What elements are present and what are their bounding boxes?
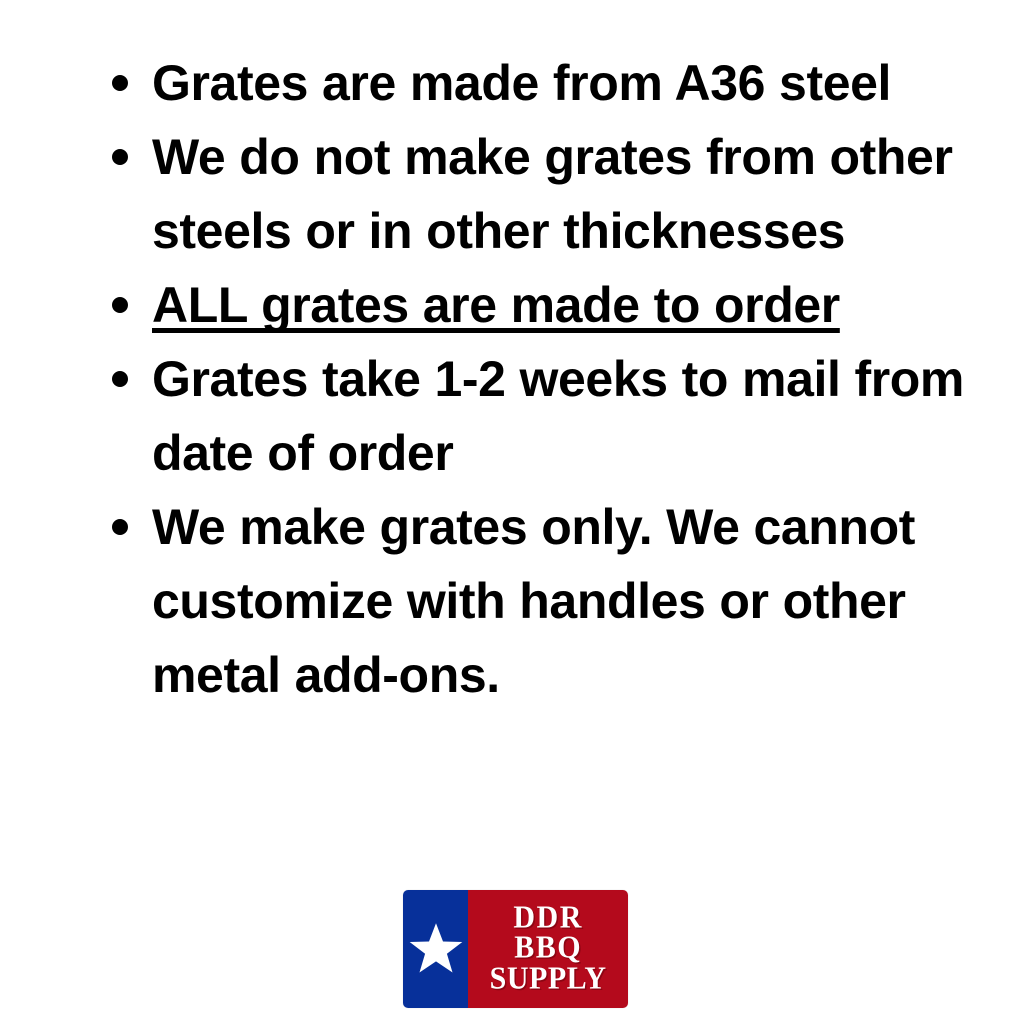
product-details-list: Grates are made from A36 steel We do not…	[108, 46, 970, 712]
bullet-dot-icon	[112, 149, 128, 165]
logo-text-supply: SUPPLY	[490, 963, 607, 995]
bullet-dot-icon	[112, 519, 128, 535]
list-item-text: Grates take 1-2 weeks to mail from date …	[152, 351, 964, 481]
list-item-text: ALL grates are made to order	[152, 277, 840, 333]
list-item: ALL grates are made to order	[108, 268, 970, 342]
list-item: We do not make grates from other steels …	[108, 120, 970, 268]
list-item: We make grates only. We cannot customize…	[108, 490, 970, 712]
logo-text-bbq: BBQ	[514, 932, 582, 964]
list-item-text: We make grates only. We cannot customize…	[152, 499, 915, 703]
logo-blue-panel	[403, 890, 468, 1008]
product-info-card: Grates are made from A36 steel We do not…	[0, 0, 1024, 1024]
list-item: Grates take 1-2 weeks to mail from date …	[108, 342, 970, 490]
bullet-dot-icon	[112, 297, 128, 313]
bullet-dot-icon	[112, 371, 128, 387]
list-item-text: Grates are made from A36 steel	[152, 55, 891, 111]
ddr-bbq-supply-logo: DDR BBQ SUPPLY	[403, 890, 628, 1008]
list-item-text: We do not make grates from other steels …	[152, 129, 953, 259]
five-pointed-star-icon	[408, 921, 464, 977]
logo-red-panel: DDR BBQ SUPPLY	[468, 890, 628, 1008]
list-item: Grates are made from A36 steel	[108, 46, 970, 120]
bullet-dot-icon	[112, 75, 128, 91]
